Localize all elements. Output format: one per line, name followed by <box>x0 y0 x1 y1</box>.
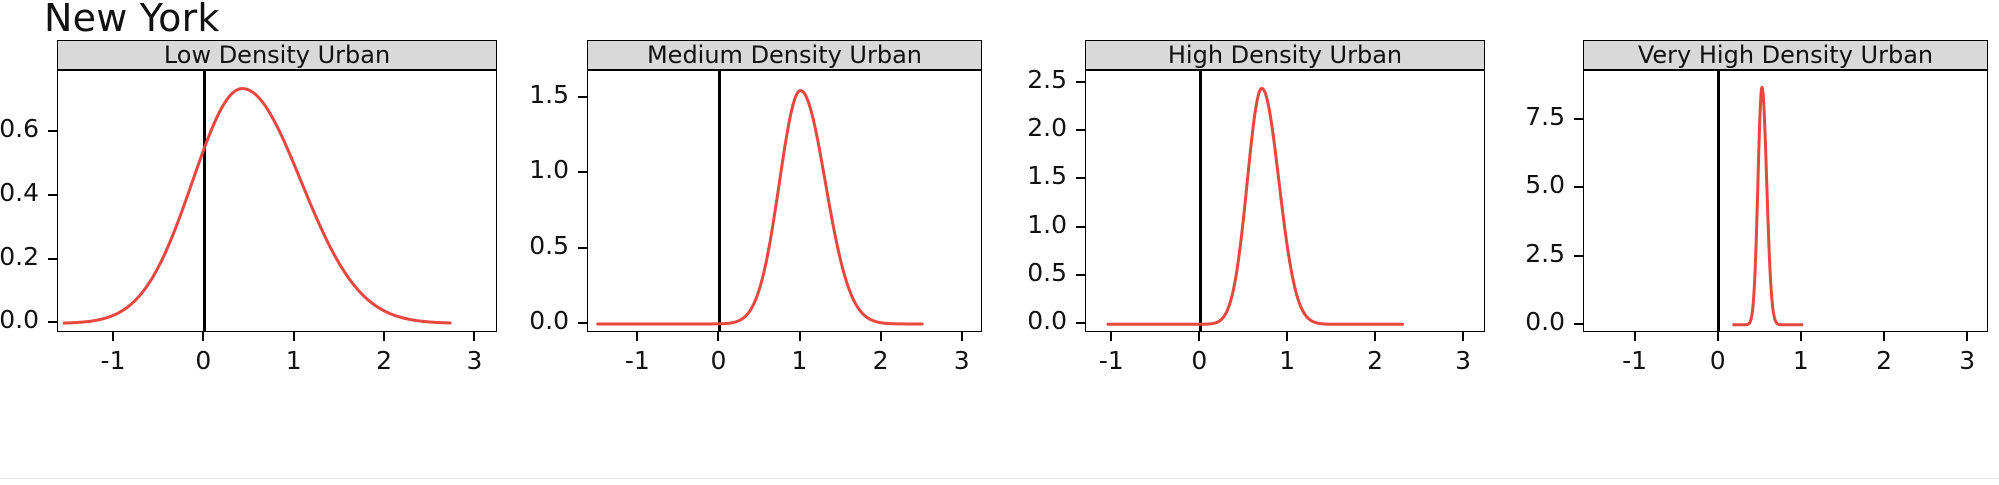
ytick-mark <box>1076 81 1085 83</box>
xtick-label: 2 <box>841 346 921 375</box>
density-curve-1 <box>588 71 982 332</box>
xtick-label: 2 <box>1335 346 1415 375</box>
ytick-mark <box>1574 323 1583 325</box>
xtick-label: 0 <box>163 346 243 375</box>
xtick-mark <box>1966 332 1968 341</box>
panel-strip-label: Low Density Urban <box>164 41 390 69</box>
xtick-mark <box>112 332 114 341</box>
ytick-label: 0.0 <box>0 305 39 334</box>
ytick-mark <box>1076 322 1085 324</box>
panel-strip-0: Low Density Urban <box>57 40 497 70</box>
ytick-label: 0.6 <box>0 114 39 143</box>
xtick-mark <box>1800 332 1802 341</box>
ytick-label: 0.5 <box>945 258 1067 287</box>
bottom-divider <box>0 478 1999 479</box>
xtick-mark <box>383 332 385 341</box>
plot-area-3 <box>1583 70 1988 332</box>
xtick-label: -1 <box>1595 346 1675 375</box>
xtick-mark <box>1110 332 1112 341</box>
panel-strip-1: Medium Density Urban <box>587 40 982 70</box>
ytick-label: 5.0 <box>1443 170 1565 199</box>
xtick-label: 3 <box>922 346 1002 375</box>
ytick-mark <box>1076 177 1085 179</box>
xtick-label: 0 <box>1159 346 1239 375</box>
xtick-label: 3 <box>1423 346 1503 375</box>
ytick-mark <box>1574 186 1583 188</box>
xtick-mark <box>1374 332 1376 341</box>
xtick-label: 3 <box>434 346 514 375</box>
xtick-mark <box>202 332 204 341</box>
ytick-mark <box>1574 118 1583 120</box>
ytick-mark <box>1076 226 1085 228</box>
ytick-mark <box>578 322 587 324</box>
ytick-mark <box>48 130 57 132</box>
xtick-label: 2 <box>1844 346 1924 375</box>
ytick-mark <box>1076 274 1085 276</box>
page-title: New York <box>44 0 220 40</box>
density-curve-2 <box>1086 71 1485 332</box>
ytick-mark <box>48 194 57 196</box>
ytick-label: 0.0 <box>945 306 1067 335</box>
ytick-label: 0.2 <box>0 242 39 271</box>
ytick-mark <box>48 258 57 260</box>
ytick-label: 2.5 <box>1443 239 1565 268</box>
xtick-label: 1 <box>1247 346 1327 375</box>
xtick-label: 0 <box>678 346 758 375</box>
density-curve-3 <box>1584 71 1988 332</box>
ytick-mark <box>578 247 587 249</box>
ytick-label: 2.0 <box>945 113 1067 142</box>
xtick-label: 0 <box>1678 346 1758 375</box>
xtick-mark <box>1286 332 1288 341</box>
xtick-mark <box>1634 332 1636 341</box>
ytick-mark <box>1076 129 1085 131</box>
ytick-mark <box>48 321 57 323</box>
xtick-mark <box>1883 332 1885 341</box>
plot-area-2 <box>1085 70 1485 332</box>
xtick-mark <box>799 332 801 341</box>
xtick-label: 1 <box>254 346 334 375</box>
xtick-label: 3 <box>1927 346 1999 375</box>
xtick-label: 1 <box>760 346 840 375</box>
density-curve-0 <box>58 71 497 332</box>
panel-strip-label: Very High Density Urban <box>1638 41 1933 69</box>
plot-area-0 <box>57 70 497 332</box>
ytick-mark <box>578 96 587 98</box>
xtick-mark <box>1198 332 1200 341</box>
ytick-label: 1.0 <box>945 210 1067 239</box>
xtick-mark <box>636 332 638 341</box>
plot-area-1 <box>587 70 982 332</box>
xtick-label: -1 <box>597 346 677 375</box>
ytick-label: 0.5 <box>447 231 569 260</box>
ytick-label: 0.0 <box>447 306 569 335</box>
ytick-label: 0.0 <box>1443 307 1565 336</box>
xtick-mark <box>880 332 882 341</box>
ytick-mark <box>1574 255 1583 257</box>
xtick-mark <box>293 332 295 341</box>
ytick-label: 1.5 <box>945 161 1067 190</box>
ytick-label: 1.5 <box>447 80 569 109</box>
panel-strip-3: Very High Density Urban <box>1583 40 1988 70</box>
ytick-label: 2.5 <box>945 65 1067 94</box>
ytick-mark <box>578 171 587 173</box>
xtick-mark <box>717 332 719 341</box>
xtick-label: -1 <box>73 346 153 375</box>
panel-strip-2: High Density Urban <box>1085 40 1485 70</box>
ytick-label: 1.0 <box>447 155 569 184</box>
xtick-label: 2 <box>344 346 424 375</box>
ytick-label: 7.5 <box>1443 102 1565 131</box>
ytick-label: 0.4 <box>0 178 39 207</box>
xtick-label: -1 <box>1071 346 1151 375</box>
xtick-mark <box>1717 332 1719 341</box>
panel-strip-label: High Density Urban <box>1168 41 1402 69</box>
panel-strip-label: Medium Density Urban <box>647 41 922 69</box>
xtick-label: 1 <box>1761 346 1841 375</box>
